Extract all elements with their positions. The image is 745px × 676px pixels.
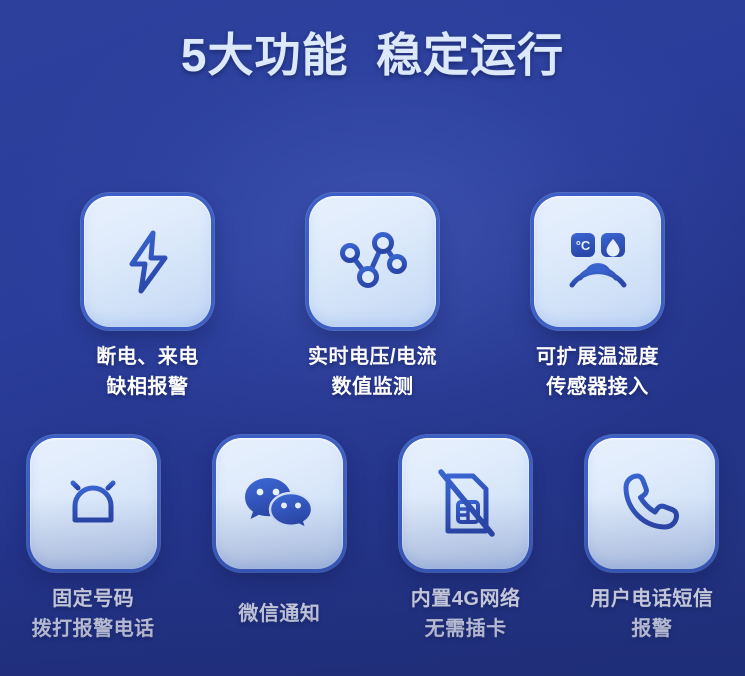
feature-card-wechat-notify[interactable] <box>216 438 343 569</box>
feature-cell-voltage-monitor: 实时电压/电流 数值监测 <box>260 196 485 402</box>
wechat-icon <box>238 463 320 545</box>
feature-poster: 5大功能 稳定运行 断电、来电 缺相报警 <box>0 0 745 676</box>
feature-card-voltage-monitor[interactable] <box>309 196 436 327</box>
feature-card-builtin-4g[interactable] <box>402 438 529 569</box>
network-nodes-icon <box>332 221 414 303</box>
feature-caption: 断电、来电 缺相报警 <box>96 342 199 402</box>
no-sim-card-icon <box>425 463 507 545</box>
feature-card-user-phone-sms[interactable] <box>588 438 715 569</box>
feature-caption: 微信通知 <box>238 599 320 629</box>
feature-row-2: 固定号码 拨打报警电话 <box>0 438 745 644</box>
feature-cell-user-phone-sms: 用户电话短信 报警 <box>559 438 745 644</box>
temperature-humidity-sensor-icon: °C <box>557 221 639 303</box>
feature-caption: 可扩展温湿度 传感器接入 <box>536 342 659 402</box>
feature-card-temp-humidity[interactable]: °C <box>534 196 661 327</box>
feature-row-1: 断电、来电 缺相报警 <box>0 196 745 402</box>
feature-caption: 实时电压/电流 数值监测 <box>308 342 437 402</box>
page-title: 5大功能 稳定运行 <box>181 26 564 84</box>
feature-card-fixed-number-call[interactable] <box>30 438 157 569</box>
alarm-siren-icon <box>52 463 134 545</box>
feature-card-power-alarm[interactable] <box>84 196 211 327</box>
feature-cell-temp-humidity: °C 可扩展温湿度 传感器接入 <box>485 196 710 402</box>
feature-cell-power-alarm: 断电、来电 缺相报警 <box>35 196 260 402</box>
svg-text:°C: °C <box>575 238 590 253</box>
feature-cell-fixed-number-call: 固定号码 拨打报警电话 <box>0 438 186 644</box>
poster-title-wrap: 5大功能 稳定运行 <box>0 26 745 84</box>
feature-caption: 用户电话短信 报警 <box>590 584 713 644</box>
lightning-bolt-icon <box>107 221 189 303</box>
feature-cell-builtin-4g: 内置4G网络 无需插卡 <box>373 438 559 644</box>
feature-caption: 固定号码 拨打报警电话 <box>32 584 155 644</box>
feature-cell-wechat-notify: 微信通知 <box>186 438 372 644</box>
feature-caption: 内置4G网络 无需插卡 <box>411 584 521 644</box>
phone-handset-icon <box>611 463 693 545</box>
